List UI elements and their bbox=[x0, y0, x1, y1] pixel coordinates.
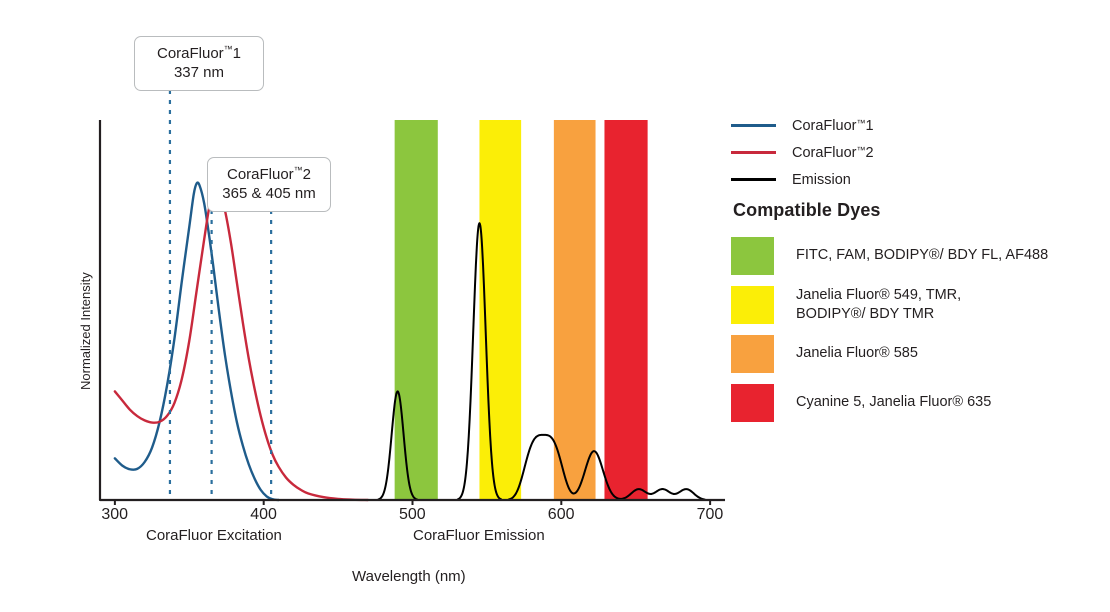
dye-item-yellow: Janelia Fluor® 549, TMR, BODIPY®/ BDY TM… bbox=[731, 286, 1106, 324]
callout-1-value: 365 & 405 nm bbox=[220, 184, 318, 203]
red-band bbox=[604, 120, 647, 500]
dye-label-line1: Janelia Fluor® 549, TMR, bbox=[796, 287, 961, 303]
trademark-symbol: ™ bbox=[856, 145, 865, 155]
green-band bbox=[395, 120, 438, 500]
dye-item-green: FITC, FAM, BODIPY®/ BDY FL, AF488 bbox=[731, 237, 1106, 275]
curve-corafluor1 bbox=[115, 183, 279, 500]
dye-label: Janelia Fluor® 549, TMR, BODIPY®/ BDY TM… bbox=[796, 286, 961, 324]
series-legend: CoraFluor™1 CoraFluor™2 Emission bbox=[731, 112, 1101, 193]
trademark-symbol: ™ bbox=[294, 165, 303, 175]
legend-item-corafluor1: CoraFluor™1 bbox=[731, 112, 1101, 139]
legend-line-swatch bbox=[731, 124, 776, 127]
legend-label: Emission bbox=[792, 172, 851, 188]
dye-color-swatch bbox=[731, 237, 774, 275]
dye-label-line1: Janelia Fluor® 585 bbox=[796, 345, 918, 361]
x-tick-500: 500 bbox=[399, 506, 426, 524]
dye-label: Janelia Fluor® 585 bbox=[796, 335, 918, 363]
legend-item-corafluor2: CoraFluor™2 bbox=[731, 139, 1101, 166]
y-axis-label: Normalized Intensity bbox=[78, 272, 93, 390]
compatible-dyes-title: Compatible Dyes bbox=[733, 200, 1106, 221]
callout-0-title: CoraFluor™1 bbox=[157, 45, 241, 62]
legend-label: CoraFluor™1 bbox=[792, 118, 874, 134]
legend-label: CoraFluor™2 bbox=[792, 145, 874, 161]
x-tick-700: 700 bbox=[697, 506, 724, 524]
callout-corafluor2: CoraFluor™2 365 & 405 nm bbox=[207, 157, 331, 212]
legend-line-swatch bbox=[731, 178, 776, 181]
trademark-symbol: ™ bbox=[224, 44, 233, 54]
legend-line-swatch bbox=[731, 151, 776, 154]
callout-0-value: 337 nm bbox=[147, 63, 251, 82]
dye-color-swatch bbox=[731, 384, 774, 422]
trademark-symbol: ™ bbox=[856, 118, 865, 128]
callout-1-title: CoraFluor™2 bbox=[227, 166, 311, 183]
x-tick-400: 400 bbox=[250, 506, 277, 524]
dye-label: FITC, FAM, BODIPY®/ BDY FL, AF488 bbox=[796, 237, 1048, 265]
dye-label-line1: Cyanine 5, Janelia Fluor® 635 bbox=[796, 394, 991, 410]
compatible-dyes-panel: Compatible Dyes FITC, FAM, BODIPY®/ BDY … bbox=[731, 200, 1106, 433]
callout-corafluor1: CoraFluor™1 337 nm bbox=[134, 36, 264, 91]
region-label-excitation: CoraFluor Excitation bbox=[146, 527, 282, 544]
dye-color-swatch bbox=[731, 335, 774, 373]
dye-label-line2: BODIPY®/ BDY TMR bbox=[796, 306, 934, 322]
x-tick-300: 300 bbox=[101, 506, 128, 524]
x-axis-title: Wavelength (nm) bbox=[352, 568, 466, 585]
region-label-emission: CoraFluor Emission bbox=[413, 527, 545, 544]
dye-item-orange: Janelia Fluor® 585 bbox=[731, 335, 1106, 373]
orange-band bbox=[554, 120, 596, 500]
dye-item-red: Cyanine 5, Janelia Fluor® 635 bbox=[731, 384, 1106, 422]
dye-label: Cyanine 5, Janelia Fluor® 635 bbox=[796, 384, 991, 412]
dye-label-line1: FITC, FAM, BODIPY®/ BDY FL, AF488 bbox=[796, 247, 1048, 263]
x-tick-600: 600 bbox=[548, 506, 575, 524]
legend-item-emission: Emission bbox=[731, 166, 1101, 193]
dye-color-swatch bbox=[731, 286, 774, 324]
curve-corafluor2 bbox=[115, 190, 368, 500]
fluorescence-spectra-figure: CoraFluor™1 337 nm CoraFluor™2 365 & 405… bbox=[0, 0, 1110, 612]
